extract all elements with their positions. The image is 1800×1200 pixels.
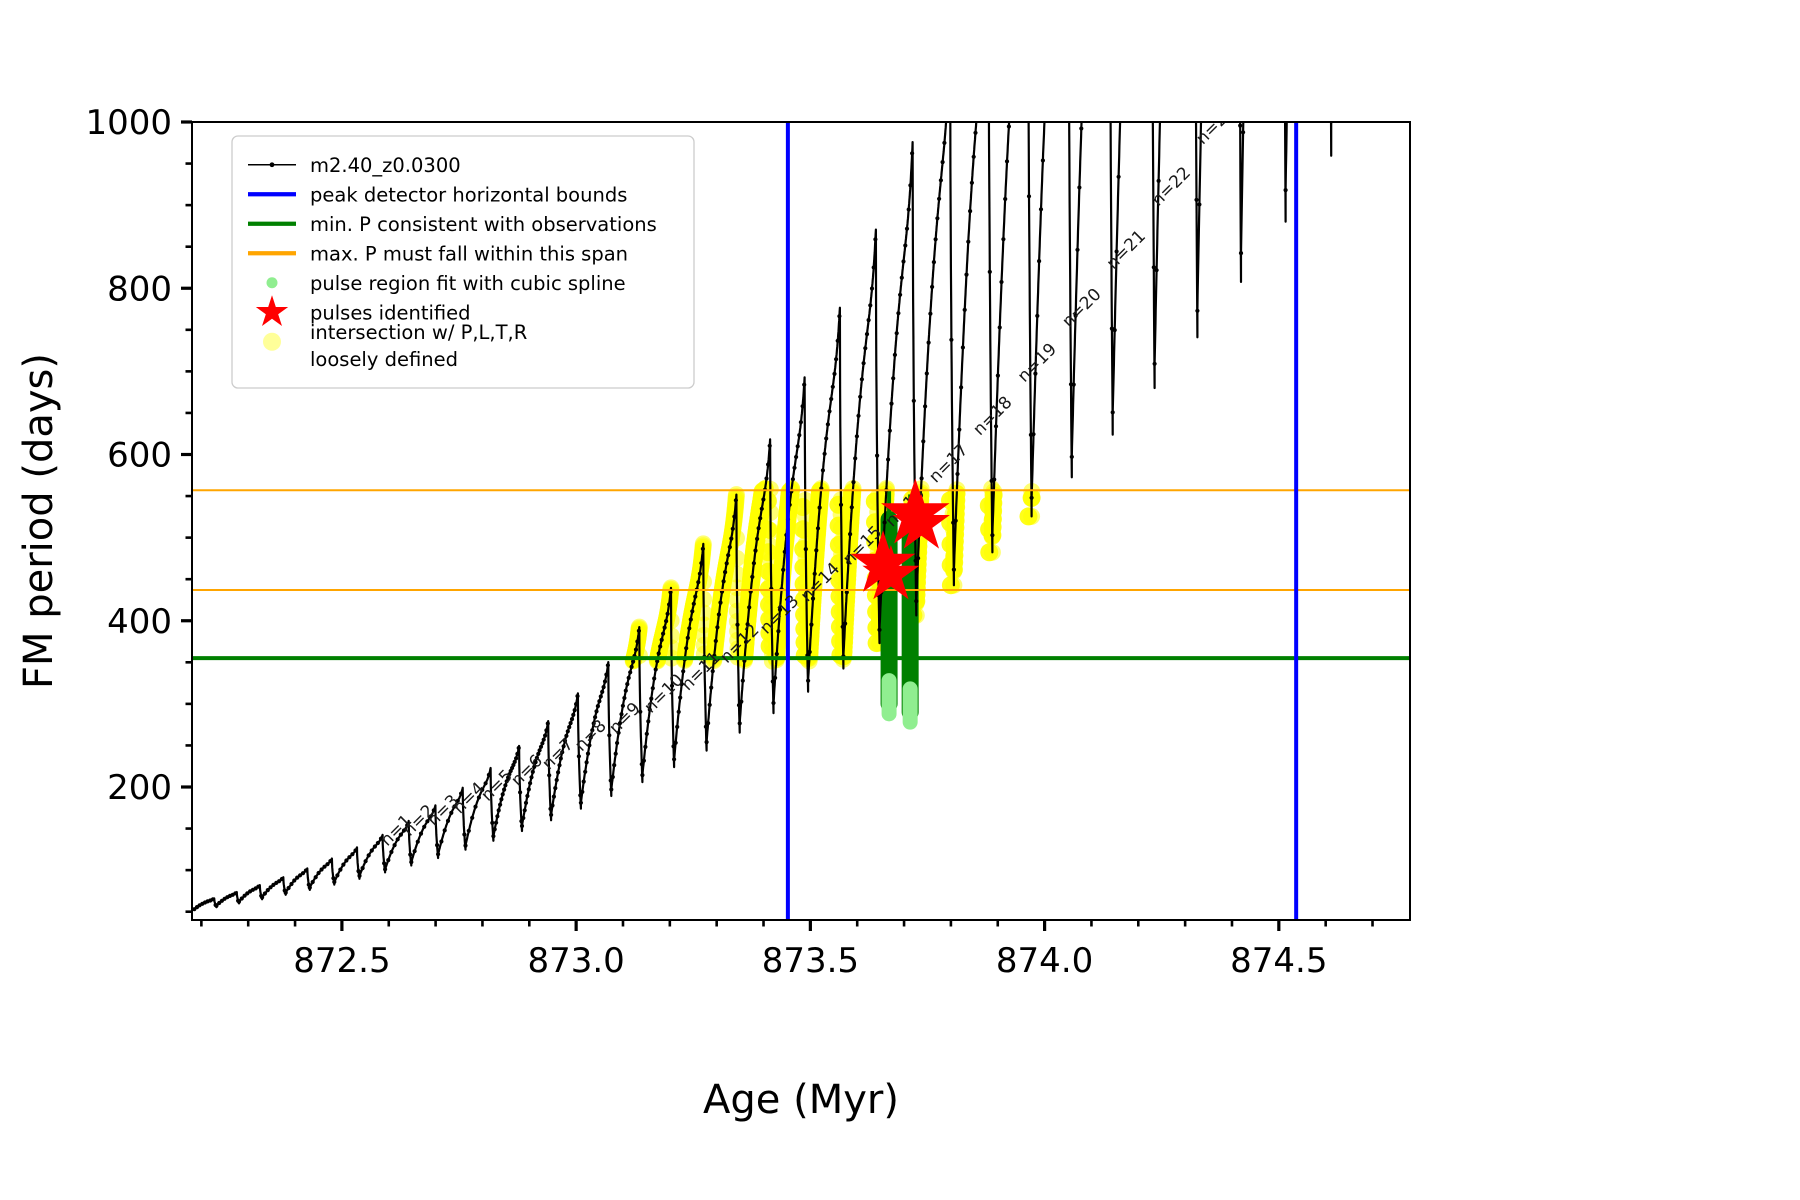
track-point [1077, 185, 1081, 189]
track-point [370, 848, 374, 852]
track-point [992, 477, 996, 481]
track-point [493, 827, 497, 831]
track-point [521, 816, 525, 820]
track-point [637, 629, 641, 633]
track-point [796, 444, 800, 448]
track-point [996, 374, 1000, 378]
track-point [912, 399, 916, 403]
x-axis-label: Age (Myr) [703, 1077, 899, 1123]
track-point [498, 803, 502, 807]
track-point [556, 770, 560, 774]
track-point [706, 721, 710, 725]
track-point [350, 852, 354, 856]
track-point [799, 420, 803, 424]
track-point [839, 503, 843, 507]
track-point [870, 286, 874, 290]
track-point [837, 314, 841, 318]
track-point [773, 676, 777, 680]
track-point [705, 740, 709, 744]
track-point [443, 828, 447, 832]
track-point [872, 265, 876, 269]
track-point [596, 704, 600, 708]
track-point [771, 701, 775, 705]
track-point [602, 685, 606, 689]
track-point [851, 480, 855, 484]
legend-label: min. P consistent with observations [310, 213, 657, 236]
track-point [932, 260, 936, 264]
track-point [435, 843, 439, 847]
track-point [314, 875, 318, 879]
track-point [615, 741, 619, 745]
track-point [525, 794, 529, 798]
track-point [741, 679, 745, 683]
x-tick-label: 873.0 [527, 941, 624, 981]
track-point [684, 646, 688, 650]
track-point [373, 844, 377, 848]
track-point [1079, 126, 1083, 130]
track-point [547, 773, 551, 777]
track-point [901, 259, 905, 263]
track-point [566, 729, 570, 733]
track-point [646, 719, 650, 723]
track-point [818, 506, 822, 510]
track-point [463, 844, 467, 848]
track-point [630, 665, 634, 669]
track-point [821, 468, 825, 472]
track-point [863, 346, 867, 350]
track-point [367, 853, 371, 857]
track-point [699, 561, 703, 565]
track-point [540, 741, 544, 745]
track-point [999, 280, 1003, 284]
legend-label: intersection w/ P,L,T,R [310, 321, 527, 344]
track-point [766, 462, 770, 466]
track-point [543, 734, 547, 738]
track-point [582, 780, 586, 784]
track-point [963, 308, 967, 312]
track-point [674, 741, 678, 745]
track-point [660, 638, 664, 642]
track-point [806, 679, 810, 683]
track-point [555, 778, 559, 782]
track-point [935, 216, 939, 220]
track-point [886, 457, 890, 461]
track-point [1153, 362, 1157, 366]
legend[interactable]: m2.40_z0.0300peak detector horizontal bo… [232, 136, 694, 388]
track-point [664, 619, 668, 623]
track-point [853, 456, 857, 460]
track-point [1005, 159, 1009, 163]
track-point [704, 725, 708, 729]
track-point [663, 626, 667, 630]
track-point [607, 733, 611, 737]
track-point [604, 673, 608, 677]
track-point [357, 874, 361, 878]
track-point [961, 345, 965, 349]
track-point [344, 858, 348, 862]
track-point [735, 623, 739, 627]
track-point [957, 428, 961, 432]
track-point [1241, 130, 1245, 134]
track-point [923, 404, 927, 408]
track-point [843, 622, 847, 626]
track-point [877, 628, 881, 632]
track-point [689, 617, 693, 621]
track-point [585, 760, 589, 764]
y-tick-label: 800 [107, 269, 172, 309]
track-point [311, 880, 315, 884]
track-point [635, 639, 639, 643]
intersection-point [1020, 507, 1038, 525]
track-point [611, 775, 615, 779]
track-point [671, 744, 675, 748]
track-point [657, 651, 661, 655]
track-point [752, 561, 756, 565]
track-point [552, 795, 556, 799]
track-point [865, 332, 869, 336]
track-point [990, 533, 994, 537]
track-point [731, 527, 735, 531]
track-point [734, 498, 738, 502]
track-point [356, 869, 360, 873]
track-point [898, 293, 902, 297]
track-point [1035, 314, 1039, 318]
track-point [939, 178, 943, 182]
track-point [930, 285, 934, 289]
track-point [331, 876, 335, 880]
track-point [527, 787, 531, 791]
track-point [640, 773, 644, 777]
track-point [518, 790, 522, 794]
track-point [263, 891, 267, 895]
track-point [382, 861, 386, 865]
intersection-point [980, 543, 998, 561]
track-point [490, 821, 494, 825]
track-point [658, 644, 662, 648]
track-point [499, 797, 503, 801]
track-point [949, 338, 953, 342]
track-point [347, 855, 351, 859]
track-point [758, 516, 762, 520]
track-point [573, 708, 577, 712]
x-tick-label: 872.5 [293, 941, 390, 981]
track-point [523, 808, 527, 812]
track-point [672, 757, 676, 761]
track-point [328, 859, 332, 863]
track-point [542, 738, 546, 742]
track-point [544, 728, 548, 732]
track-point [831, 385, 835, 389]
y-axis-label: FM period (days) [16, 353, 62, 689]
track-point [701, 547, 705, 551]
track-point [797, 433, 801, 437]
track-point [1007, 124, 1011, 128]
track-point [867, 318, 871, 322]
legend-item[interactable]: min. P consistent with observations [248, 213, 657, 236]
track-point [696, 580, 700, 584]
track-point [829, 397, 833, 401]
track-point [860, 377, 864, 381]
track-point [325, 862, 329, 866]
track-point [624, 689, 628, 693]
track-point [386, 858, 390, 862]
track-point [692, 602, 696, 606]
track-point [353, 848, 357, 852]
track-point [834, 357, 838, 361]
track-point [728, 545, 732, 549]
track-point [873, 237, 877, 241]
track-point [717, 612, 721, 616]
track-point [280, 877, 284, 881]
track-point [955, 472, 959, 476]
track-point [661, 632, 665, 636]
track-point [809, 623, 813, 627]
track-point [642, 759, 646, 763]
y-tick-label: 600 [107, 436, 172, 476]
track-point [921, 439, 925, 443]
track-point [634, 648, 638, 652]
track-point [600, 690, 604, 694]
track-point [308, 886, 312, 890]
chart-svg: n=1n=2n=3n=4n=5n=6n=7n=8n=9n=10n=11n=12n… [0, 0, 1800, 1200]
track-point [952, 568, 956, 572]
track-point [1238, 124, 1242, 128]
track-point [760, 507, 764, 511]
track-point [738, 721, 742, 725]
track-point [928, 312, 932, 316]
track-point [520, 824, 524, 828]
track-point [675, 725, 679, 729]
track-point [1195, 309, 1199, 313]
track-point [497, 808, 501, 812]
track-point [714, 639, 718, 643]
track-point [855, 434, 859, 438]
y-tick-label: 200 [107, 768, 172, 808]
track-point [968, 209, 972, 213]
track-point [549, 813, 553, 817]
track-point [687, 626, 691, 630]
track-point [567, 725, 571, 729]
track-point [569, 721, 573, 725]
legend-label-second-line: loosely defined [310, 348, 458, 371]
track-point [640, 762, 644, 766]
track-point [972, 155, 976, 159]
track-point [709, 686, 713, 690]
track-point [816, 526, 820, 530]
track-point [628, 670, 632, 674]
track-point [937, 197, 941, 201]
track-point [750, 575, 754, 579]
track-point [723, 570, 727, 574]
track-point [627, 676, 631, 680]
track-point [570, 717, 574, 721]
track-point [678, 696, 682, 700]
track-point [677, 710, 681, 714]
track-point [603, 679, 607, 683]
track-point [514, 756, 518, 760]
track-point [896, 311, 900, 315]
track-point [284, 891, 288, 895]
track-point [925, 371, 929, 375]
track-point [580, 790, 584, 794]
track-point [888, 429, 892, 433]
legend-dot-swatch [263, 333, 281, 351]
track-point [1113, 328, 1117, 332]
track-point [622, 696, 626, 700]
track-point [722, 579, 726, 583]
x-tick-label: 874.0 [996, 941, 1093, 981]
track-point [893, 353, 897, 357]
track-point [792, 466, 796, 470]
track-point [959, 385, 963, 389]
legend-label: max. P must fall within this span [310, 242, 628, 265]
track-point [916, 556, 920, 560]
y-tick-label: 400 [107, 602, 172, 642]
track-point [698, 572, 702, 576]
legend-item[interactable]: pulse region fit with cubic spline [267, 272, 626, 295]
track-point [900, 276, 904, 280]
track-point [439, 839, 443, 843]
track-point [708, 703, 712, 707]
track-point [942, 141, 946, 145]
track-point [686, 636, 690, 640]
track-point [237, 900, 241, 904]
track-point [652, 676, 656, 680]
track-point [667, 602, 671, 606]
track-point [612, 763, 616, 767]
track-point [801, 404, 805, 408]
track-point [726, 553, 730, 557]
track-point [643, 745, 647, 749]
track-point [725, 561, 729, 565]
track-point [739, 700, 743, 704]
legend-marker-dot [270, 162, 275, 167]
track-point [891, 376, 895, 380]
track-point [625, 682, 629, 686]
figure-canvas: n=1n=2n=3n=4n=5n=6n=7n=8n=9n=10n=11n=12n… [0, 0, 1800, 1200]
track-point [1157, 179, 1161, 183]
track-point [614, 752, 618, 756]
track-point [908, 183, 912, 187]
track-point [755, 537, 759, 541]
track-point [550, 803, 554, 807]
track-point [304, 868, 308, 872]
track-point [609, 778, 613, 782]
x-tick-label: 873.5 [762, 941, 859, 981]
track-point [1111, 410, 1115, 414]
track-point [1039, 207, 1043, 211]
intersection-point [794, 498, 812, 516]
track-point [910, 151, 914, 155]
track-point [998, 325, 1002, 329]
track-point [858, 395, 862, 399]
track-point [907, 207, 911, 211]
track-point [794, 455, 798, 459]
track-point [583, 770, 587, 774]
track-point [905, 227, 909, 231]
track-point [409, 860, 413, 864]
track-point [757, 526, 761, 530]
track-point [487, 773, 491, 777]
track-point [494, 821, 498, 825]
track-point [289, 882, 293, 886]
track-point [732, 515, 736, 519]
track-point [693, 595, 697, 599]
track-point [934, 237, 938, 241]
track-point [1075, 248, 1079, 252]
legend-label: pulse region fit with cubic spline [310, 272, 626, 295]
track-point [966, 240, 970, 244]
track-point [715, 625, 719, 629]
track-point [408, 853, 412, 857]
intersection-point [759, 521, 777, 539]
track-point [594, 709, 598, 713]
track-point [364, 859, 368, 863]
track-point [1155, 268, 1159, 272]
track-point [553, 786, 557, 790]
track-point [577, 754, 581, 758]
track-point [747, 605, 751, 609]
track-point [941, 160, 945, 164]
track-point [753, 549, 757, 553]
track-point [341, 863, 345, 867]
track-point [609, 787, 613, 791]
track-point [1194, 198, 1198, 202]
x-tick-label: 874.5 [1230, 941, 1327, 981]
track-point [1027, 194, 1031, 198]
track-point [416, 840, 420, 844]
track-point [802, 383, 806, 387]
track-point [875, 454, 879, 458]
track-point [737, 703, 741, 707]
track-point [781, 568, 785, 572]
legend-dot-swatch [267, 277, 278, 288]
track-point [361, 866, 365, 870]
track-point [1001, 237, 1005, 241]
track-point [954, 519, 958, 523]
track-point [804, 547, 808, 551]
track-point [927, 341, 931, 345]
track-point [988, 270, 992, 274]
track-point [814, 548, 818, 552]
track-point [964, 273, 968, 277]
track-point [517, 746, 521, 750]
track-point [1031, 432, 1035, 436]
track-point [211, 897, 215, 901]
track-point [579, 801, 583, 805]
track-point [413, 849, 417, 853]
track-point [903, 243, 907, 247]
track-point [970, 181, 974, 185]
track-point [436, 852, 440, 856]
track-point [467, 829, 471, 833]
track-point [826, 422, 830, 426]
track-point [233, 891, 237, 895]
legend-label: m2.40_z0.0300 [310, 154, 461, 177]
track-point [495, 814, 499, 818]
track-point [256, 885, 260, 889]
track-point [575, 694, 579, 698]
track-point [1041, 158, 1045, 162]
track-point [824, 436, 828, 440]
track-point [848, 532, 852, 536]
track-point [574, 702, 578, 706]
track-point [856, 414, 860, 418]
track-point [335, 873, 339, 877]
legend-label: peak detector horizontal bounds [310, 183, 627, 206]
y-tick-label: 1000 [85, 103, 172, 143]
track-point [1239, 251, 1243, 255]
